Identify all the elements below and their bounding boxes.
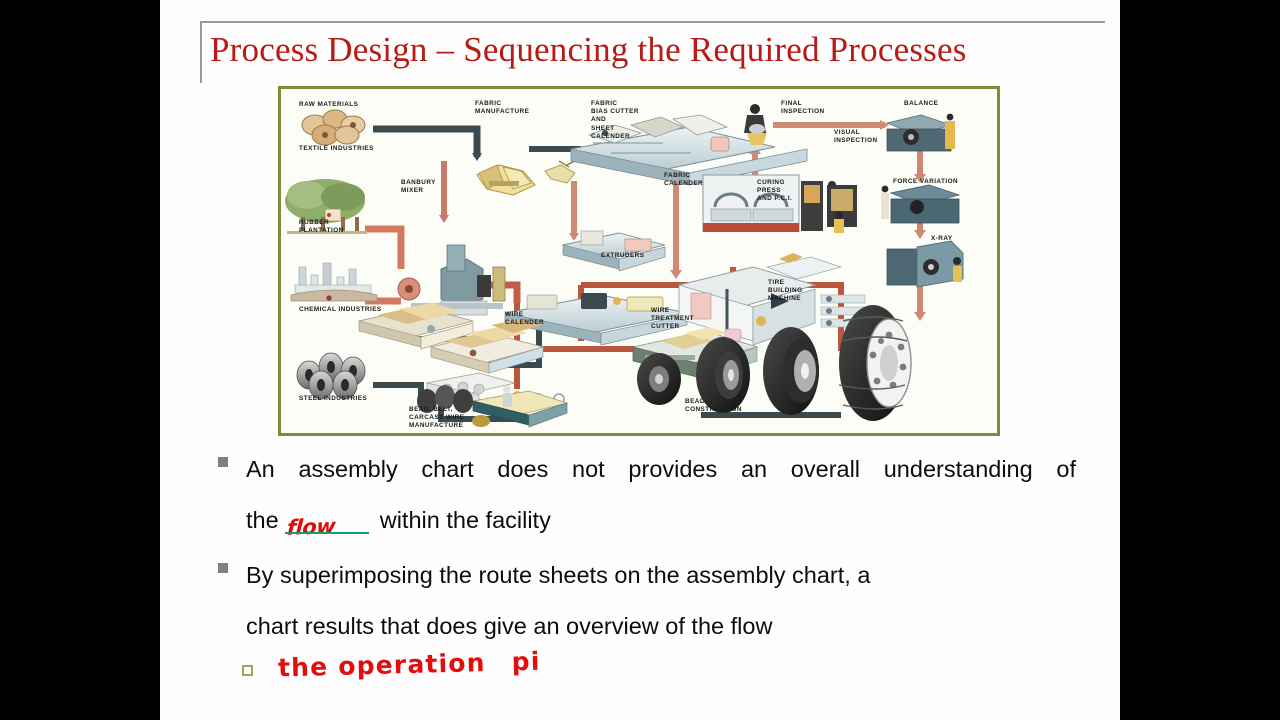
bullet-1-line-2-suffix: within the facility <box>380 507 551 533</box>
figure-label-fabric-bias-cutter: FABRIC BIAS CUTTER AND SHEET CALENDER <box>591 100 639 141</box>
figure-label-steel-industries: STEEL INDUSTRIES <box>299 395 367 403</box>
letterbox-bar-right <box>1120 0 1280 720</box>
handwritten-note-trailing: pi <box>511 647 541 677</box>
figure-label-raw-materials: RAW MATERIALS <box>299 101 358 109</box>
figure-label-rubber-plantation: RUBBER PLANTATION <box>299 219 344 235</box>
bullet-1-line-2: the flow within the facility <box>246 495 1076 546</box>
figure-label-bead-belt-carcass: BEAD, BELT, CARCASS WIRE MANUFACTURE <box>409 406 464 431</box>
figure-label-visual-inspection: VISUAL INSPECTION <box>834 129 878 145</box>
letterbox-bar-left <box>0 0 160 720</box>
bullet-item-1: An assembly chart does not provides an o… <box>160 444 1120 546</box>
bullet-1-line-1: An assembly chart does not provides an o… <box>246 444 1076 495</box>
bullet-2-line-2: chart results that does give an overview… <box>246 601 1076 652</box>
figure-label-wire-treatment-cutter: WIRE TREATMENT CUTTER <box>651 307 694 332</box>
screenshot-root: Process Design – Sequencing the Required… <box>0 0 1280 720</box>
figure-illustration <box>281 89 997 433</box>
handwritten-note-text: the operationpi <box>278 647 541 683</box>
figure-label-wire-calender: WIRE CALENDER <box>505 311 544 327</box>
figure-label-extruders: EXTRUDERS <box>601 252 644 260</box>
figure-label-banbury-mixer: BANBURY MIXER <box>401 179 436 195</box>
blank-underline <box>285 532 369 534</box>
figure-label-bead-construction: BEAD CONSTRUCTION <box>685 398 742 414</box>
bullet-1-line-2-prefix: the <box>246 507 279 533</box>
presentation-slide: Process Design – Sequencing the Required… <box>160 0 1120 720</box>
title-rule-divider <box>200 21 1105 23</box>
figure-label-force-variation: FORCE VARIATION <box>893 178 958 186</box>
slide-body: An assembly chart does not provides an o… <box>160 444 1120 679</box>
figure-label-x-ray: X-RAY <box>931 235 953 243</box>
figure-label-balance: BALANCE <box>904 100 938 108</box>
figure-label-textile-industries: TEXTILE INDUSTRIES <box>299 145 374 153</box>
process-flow-figure: RAW MATERIALS TEXTILE INDUSTRIES FABRIC … <box>278 86 1000 436</box>
figure-label-chemical-industries: CHEMICAL INDUSTRIES <box>299 306 382 314</box>
page-title: Process Design – Sequencing the Required… <box>210 28 1110 72</box>
handwritten-sub-bullet: the operationpi <box>160 650 1120 679</box>
bullet-square-icon <box>218 457 228 467</box>
figure-label-final-inspection: FINAL INSPECTION <box>781 100 825 116</box>
bullet-square-icon <box>218 563 228 573</box>
figure-label-curing-press-pci: CURING PRESS AND P.C.I. <box>757 179 792 204</box>
figure-label-fabric-calender: FABRIC CALENDER <box>664 172 703 188</box>
figure-label-fabric-manufacture: FABRIC MANUFACTURE <box>475 100 529 116</box>
bullet-2-line-1: By superimposing the route sheets on the… <box>246 550 1076 601</box>
handwritten-note-main: the operation <box>278 648 486 682</box>
bullet-item-2: By superimposing the route sheets on the… <box>160 550 1120 652</box>
title-left-tick <box>200 21 202 83</box>
handwritten-flow-annotation: flow <box>285 501 337 554</box>
figure-label-tire-building-machine: TIRE BUILDING MACHINE <box>768 279 803 304</box>
hollow-square-bullet-icon <box>242 665 253 676</box>
